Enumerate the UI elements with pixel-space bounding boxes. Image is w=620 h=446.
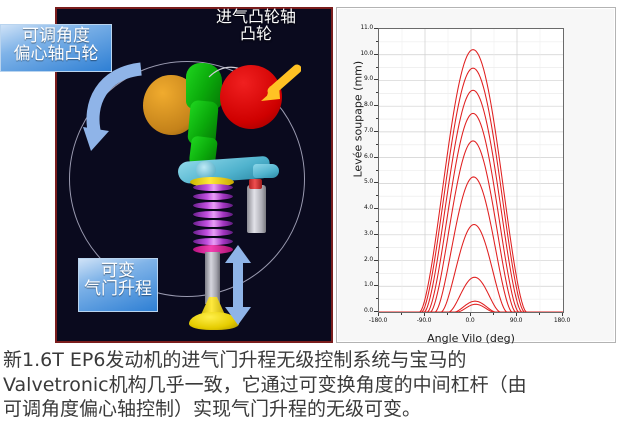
chart-y-axis-title: Levée soupape (mm) [352,68,365,178]
pointer-arrow-icon [239,63,301,107]
chart-curves [379,29,563,312]
screenshot-root: 可调角度 偏心轴凸轮 可变 气门升程 进气凸轮轴 凸轮 Levée soupap… [0,0,620,446]
valve-lift-arrow-icon [223,245,253,325]
chart-y-tick-label: 0.0 [339,307,373,314]
chart-y-tick-label: 4.0 [339,204,373,211]
caption: 新1.6T EP6发动机的进气门升程无级控制系统与宝马的 Valvetronic… [3,348,617,422]
callout-eccentric-line2: 偏心轴凸轮 [1,45,111,63]
callout-lift-line2: 气门升程 [79,280,157,298]
chart-x-tick-label: 180.0 [546,317,578,324]
caption-line-1: 新1.6T EP6发动机的进气门升程无级控制系统与宝马的 [3,348,617,373]
chart-y-tick-label: 8.0 [339,101,373,108]
callout-variable-valve-lift: 可变 气门升程 [78,258,158,312]
callout-eccentric-shaft-cam: 可调角度 偏心轴凸轮 [0,24,112,72]
caption-line-2: Valvetronic机构几乎一致，它通过可变换角度的中间杠杆（由 [3,373,617,398]
chart-y-tick-label: 5.0 [339,178,373,185]
chart-y-tick-label: 2.0 [339,256,373,263]
hydraulic-lash-adjuster [247,185,266,233]
chart-y-tick-label: 1.0 [339,281,373,288]
callout-lift-line1: 可变 [79,262,157,280]
chart-x-axis-title: Angle Vilo (deg) [378,332,564,345]
chart-plot-area [378,28,564,313]
rocker-arm-right-tip [253,164,279,178]
valve-spring [193,184,233,250]
chart-y-tick-label: 7.0 [339,127,373,134]
chart-x-tick-label: 0.0 [454,317,486,324]
chart-y-tick-label: 10.0 [339,50,373,57]
hydraulic-element-cap [249,179,262,189]
label-camshaft-line2: 凸轮 [196,25,316,42]
label-intake-camshaft-cam: 进气凸轮轴 凸轮 [196,8,316,43]
chart-y-tick-label: 11.0 [339,24,373,31]
chart-x-tick-label: 90.0 [500,317,532,324]
rotation-arrow-icon [79,57,151,157]
chart-x-tick-label: -90.0 [408,317,440,324]
callout-eccentric-line1: 可调角度 [1,27,111,45]
chart-y-tick-label: 9.0 [339,75,373,82]
chart-y-tick-label: 3.0 [339,230,373,237]
label-camshaft-line1: 进气凸轮轴 [196,8,316,25]
caption-line-3: 可调角度偏心轴控制）实现气门升程的无级可变。 [3,397,617,422]
valve-lift-chart: Levée soupape (mm) Angle Vilo (deg) 0.01… [336,7,616,343]
valve-stem [205,252,220,304]
chart-y-tick-label: 6.0 [339,153,373,160]
chart-x-tick-label: -180.0 [362,317,394,324]
